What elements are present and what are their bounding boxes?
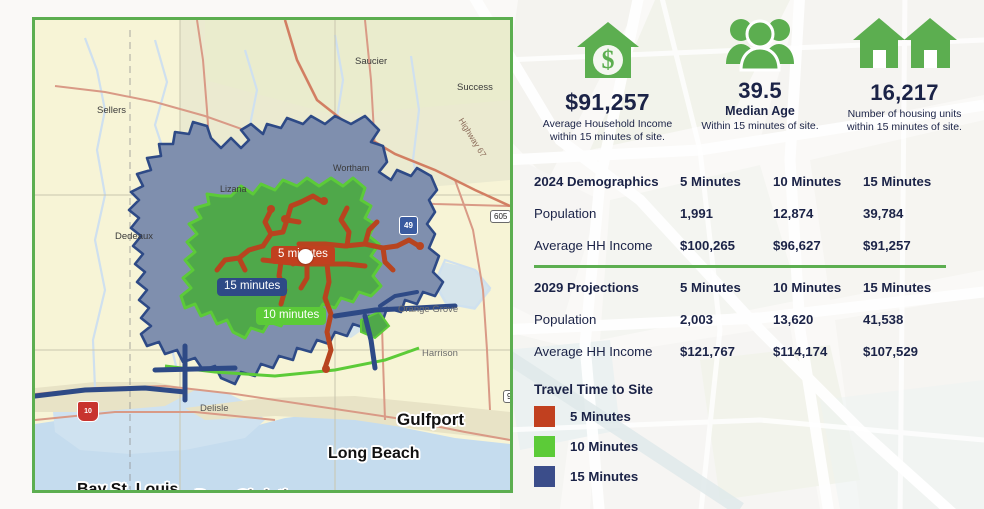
travel-time-map[interactable]: Sellers Dedeaux Saucier Success Lizana W… xyxy=(32,17,513,493)
table-title: 2029 Projections xyxy=(534,280,680,295)
legend-item-10-minutes[interactable]: 10 Minutes xyxy=(534,436,653,457)
kpi-label: Median Age xyxy=(690,104,830,118)
column-header-15min: 15 Minutes xyxy=(863,280,946,295)
route-shield-605: 605 xyxy=(490,210,511,223)
row-value: 2,003 xyxy=(680,312,773,327)
kpi-value: $91,257 xyxy=(525,89,690,116)
column-header-10min: 10 Minutes xyxy=(773,174,863,189)
legend-title: Travel Time to Site xyxy=(534,382,653,397)
map-badge-15-minutes: 15 minutes xyxy=(217,278,287,296)
demographics-tables: 2024 Demographics 5 Minutes 10 Minutes 1… xyxy=(534,165,946,368)
people-group-icon xyxy=(690,14,830,77)
column-header-5min: 5 Minutes xyxy=(680,280,773,295)
table-row: Population 2,003 13,620 41,538 xyxy=(534,304,946,336)
row-value: $100,265 xyxy=(680,238,773,253)
table-2029-projections: 2029 Projections 5 Minutes 10 Minutes 15… xyxy=(534,272,946,368)
route-shield-90: 90 xyxy=(503,390,513,403)
table-title: 2024 Demographics xyxy=(534,174,680,189)
kpi-sub: Number of housing units within 15 minute… xyxy=(825,108,984,133)
map-legend: Travel Time to Site 5 Minutes 10 Minutes… xyxy=(534,382,653,496)
table-divider xyxy=(534,265,946,268)
row-value: 13,620 xyxy=(773,312,863,327)
row-value: 1,991 xyxy=(680,206,773,221)
house-dollar-icon: $ xyxy=(525,20,690,87)
legend-label: 5 Minutes xyxy=(570,409,631,424)
kpi-housing-units: 16,217 Number of housing units within 15… xyxy=(825,14,984,133)
legend-swatch-10-minutes xyxy=(534,436,555,457)
legend-item-15-minutes[interactable]: 15 Minutes xyxy=(534,466,653,487)
table-2024-demographics: 2024 Demographics 5 Minutes 10 Minutes 1… xyxy=(534,165,946,261)
row-value: $107,529 xyxy=(863,344,946,359)
row-value: 39,784 xyxy=(863,206,946,221)
row-value: $91,257 xyxy=(863,238,946,253)
table-header-row: 2024 Demographics 5 Minutes 10 Minutes 1… xyxy=(534,165,946,197)
column-header-10min: 10 Minutes xyxy=(773,280,863,295)
site-marker-dot[interactable] xyxy=(298,249,313,264)
route-shield-49: 49 xyxy=(399,216,418,235)
legend-item-5-minutes[interactable]: 5 Minutes xyxy=(534,406,653,427)
column-header-5min: 5 Minutes xyxy=(680,174,773,189)
row-label: Population xyxy=(534,312,680,327)
row-label: Average HH Income xyxy=(534,344,680,359)
two-houses-icon xyxy=(825,14,984,79)
table-row: Population 1,991 12,874 39,784 xyxy=(534,197,946,229)
row-label: Average HH Income xyxy=(534,238,680,253)
row-value: $121,767 xyxy=(680,344,773,359)
legend-label: 15 Minutes xyxy=(570,469,638,484)
kpi-sub: Within 15 minutes of site. xyxy=(690,120,830,133)
kpi-row: $ $91,257 Average Household Income withi… xyxy=(525,14,984,154)
legend-swatch-5-minutes xyxy=(534,406,555,427)
table-row: Average HH Income $100,265 $96,627 $91,2… xyxy=(534,229,946,261)
legend-label: 10 Minutes xyxy=(570,439,638,454)
interstate-shield-10: 10 xyxy=(77,401,99,422)
kpi-average-household-income: $ $91,257 Average Household Income withi… xyxy=(525,20,690,143)
legend-swatch-15-minutes xyxy=(534,466,555,487)
row-value: 12,874 xyxy=(773,206,863,221)
kpi-value: 39.5 xyxy=(690,78,830,104)
kpi-value: 16,217 xyxy=(825,80,984,106)
kpi-sub: Average Household Income within 15 minut… xyxy=(525,118,690,143)
map-badge-10-minutes: 10 minutes xyxy=(256,307,326,325)
row-value: 41,538 xyxy=(863,312,946,327)
row-value: $114,174 xyxy=(773,344,863,359)
kpi-median-age: 39.5 Median Age Within 15 minutes of sit… xyxy=(690,14,830,133)
infographic-root: Sellers Dedeaux Saucier Success Lizana W… xyxy=(0,0,984,509)
table-row: Average HH Income $121,767 $114,174 $107… xyxy=(534,336,946,368)
svg-text:$: $ xyxy=(601,45,614,74)
column-header-15min: 15 Minutes xyxy=(863,174,946,189)
table-header-row: 2029 Projections 5 Minutes 10 Minutes 15… xyxy=(534,272,946,304)
row-label: Population xyxy=(534,206,680,221)
row-value: $96,627 xyxy=(773,238,863,253)
